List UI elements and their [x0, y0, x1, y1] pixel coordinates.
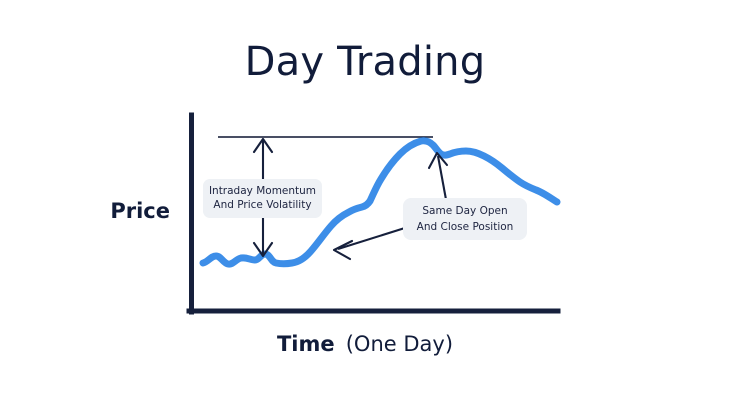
- day-trading-chart: Day Trading Price Time (One Day) Intrada…: [0, 0, 730, 420]
- y-axis-label: Price: [110, 199, 170, 223]
- callout-same-day-line2: And Close Position: [417, 221, 514, 233]
- x-axis-label-light: (One Day): [346, 332, 453, 356]
- callout-same-day-line1: Same Day Open: [422, 205, 507, 217]
- x-axis-label: Time (One Day): [277, 332, 453, 356]
- callout-intraday-line1: Intraday Momentum: [209, 185, 316, 197]
- callout-intraday-line2: And Price Volatility: [213, 199, 311, 211]
- x-axis-label-strong: Time: [277, 332, 335, 356]
- chart-title: Day Trading: [245, 39, 486, 85]
